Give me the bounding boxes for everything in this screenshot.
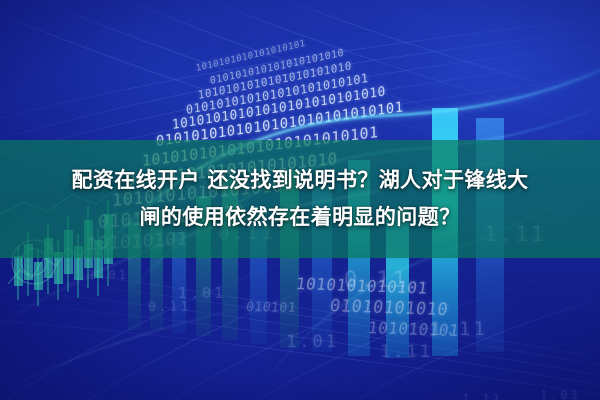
headline-text: 配资在线开户 还没找到说明书？湖人对于锋线大 闸的使用依然存在着明显的问题？ bbox=[0, 162, 600, 236]
headline-line-2: 闸的使用依然存在着明显的问题？ bbox=[8, 199, 592, 236]
banner-image: 1010101010101010101010101010101010101010… bbox=[0, 0, 600, 400]
headline-line-1: 配资在线开户 还没找到说明书？湖人对于锋线大 bbox=[8, 162, 592, 199]
